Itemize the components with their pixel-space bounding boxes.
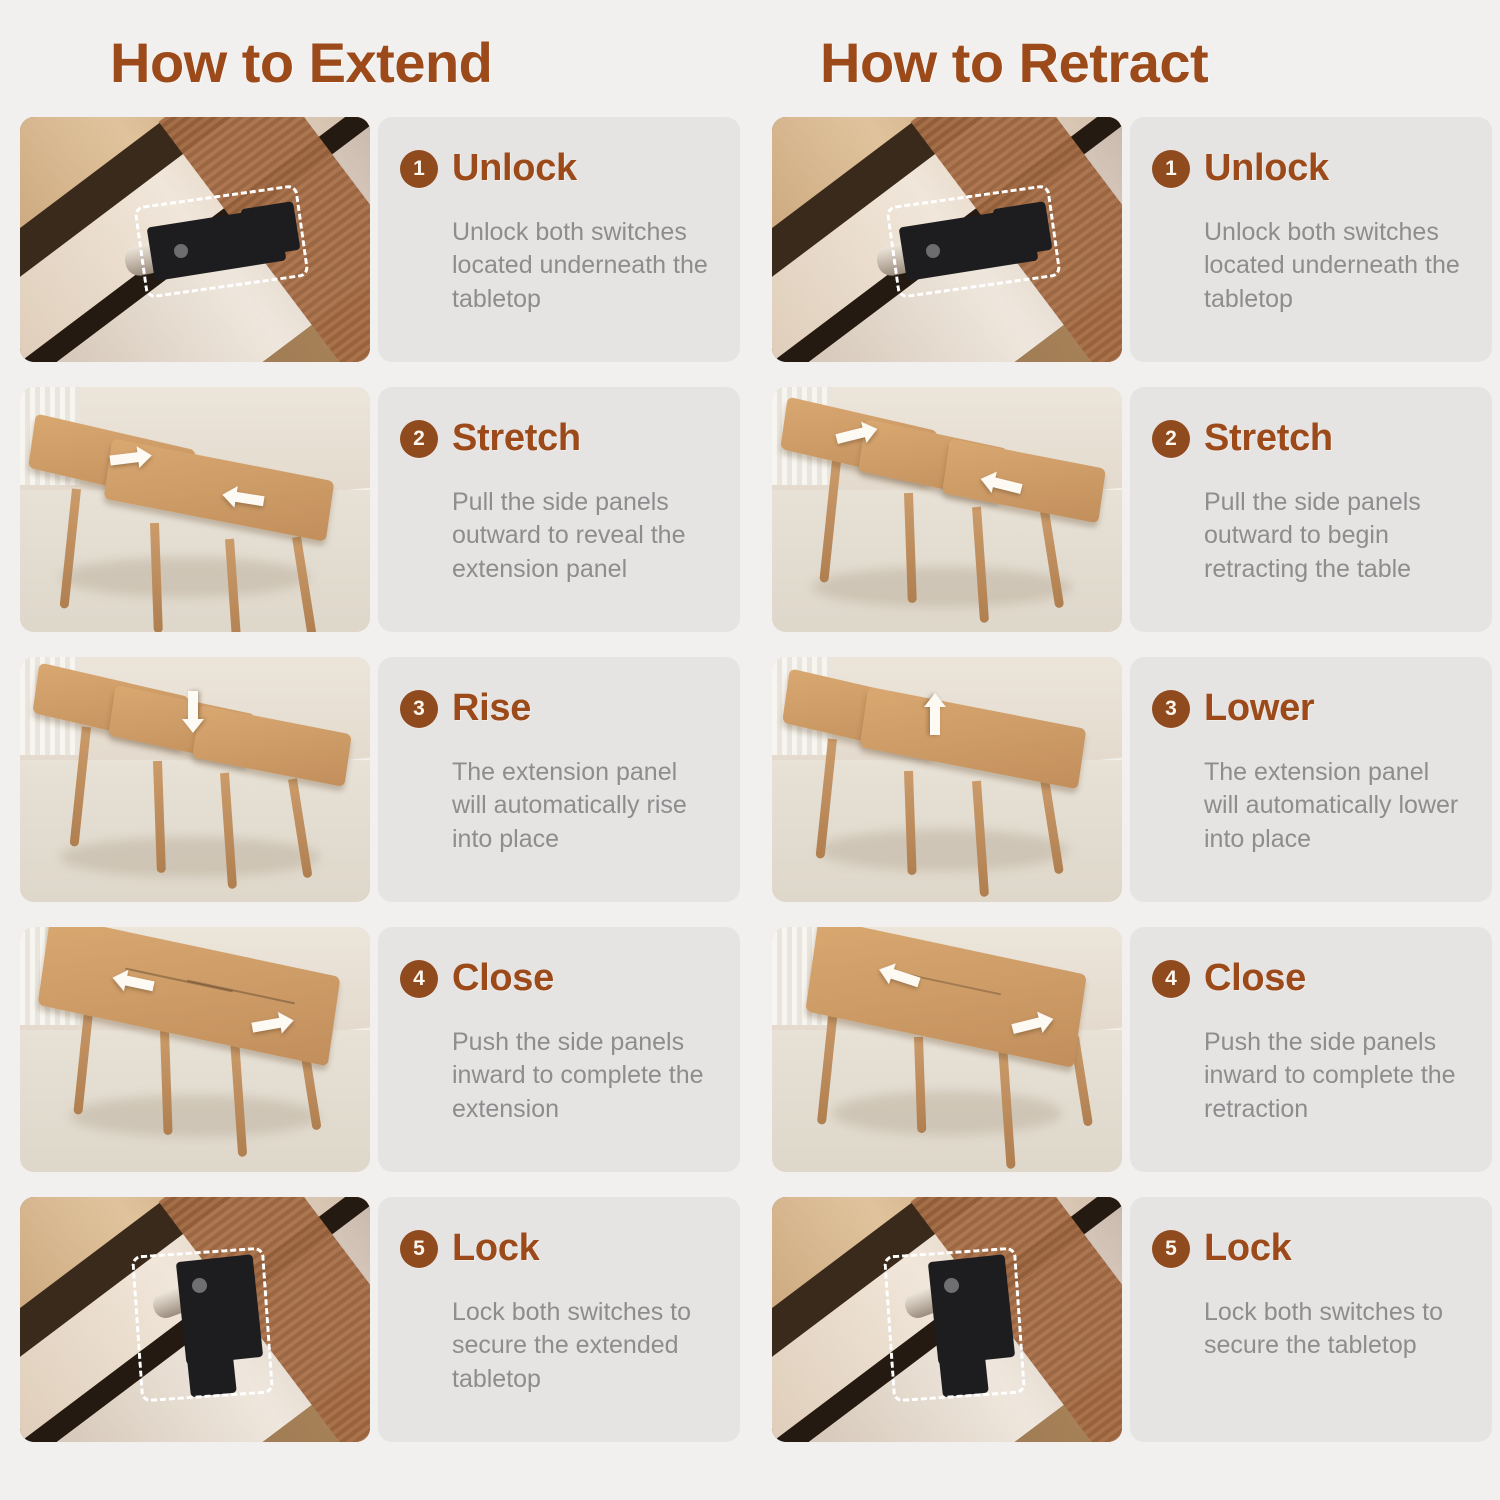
step-card: 4 Close Push the side panels inward to c…: [1130, 927, 1492, 1172]
step-description: Lock both switches to secure the extende…: [452, 1296, 714, 1396]
step-description: Unlock both switches located underneath …: [452, 216, 714, 316]
photo-mechanism-locked: [20, 1197, 370, 1442]
step-row: 4 Close Push the side panels inward to c…: [20, 927, 740, 1172]
step-number-badge: 1: [1152, 150, 1190, 188]
step-title: Rise: [452, 687, 531, 730]
column-title-extend: How to Extend: [110, 0, 740, 95]
step-row: 1 Unlock Unlock both switches located un…: [20, 117, 740, 362]
highlight-dashed-outline: [883, 1246, 1026, 1402]
step-title: Lower: [1204, 687, 1314, 730]
column-extend: How to Extend: [20, 0, 740, 1500]
photo-table-extended: [20, 927, 370, 1172]
step-row: 3 Rise The extension panel will automati…: [20, 657, 740, 902]
step-row: 2 Stretch Pull the side panels outward t…: [20, 387, 740, 632]
step-description: Lock both switches to secure the tableto…: [1204, 1296, 1466, 1363]
column-title-retract: How to Retract: [820, 0, 1492, 95]
step-card: 2 Stretch Pull the side panels outward t…: [378, 387, 740, 632]
step-title: Lock: [452, 1227, 540, 1270]
step-title: Close: [1204, 957, 1306, 1000]
step-list-extend: 1 Unlock Unlock both switches located un…: [20, 117, 740, 1442]
step-number-badge: 5: [400, 1230, 438, 1268]
step-card: 3 Rise The extension panel will automati…: [378, 657, 740, 902]
step-card: 5 Lock Lock both switches to secure the …: [1130, 1197, 1492, 1442]
step-card: 2 Stretch Pull the side panels outward t…: [1130, 387, 1492, 632]
step-description: Pull the side panels outward to begin re…: [1204, 486, 1466, 586]
step-number-badge: 4: [1152, 960, 1190, 998]
step-description: The extension panel will automatically l…: [1204, 756, 1466, 856]
photo-table-partially-open: [20, 387, 370, 632]
step-description: Push the side panels inward to complete …: [452, 1026, 714, 1126]
step-card: 1 Unlock Unlock both switches located un…: [378, 117, 740, 362]
step-row: 5 Lock Lock both switches to secure the …: [20, 1197, 740, 1442]
step-title: Close: [452, 957, 554, 1000]
step-description: Pull the side panels outward to reveal t…: [452, 486, 714, 586]
photo-table-fully-open: [772, 387, 1122, 632]
step-card: 5 Lock Lock both switches to secure the …: [378, 1197, 740, 1442]
column-retract: How to Retract: [772, 0, 1492, 1500]
step-card: 3 Lower The extension panel will automat…: [1130, 657, 1492, 902]
step-title: Unlock: [1204, 147, 1329, 190]
step-description: The extension panel will automatically r…: [452, 756, 714, 856]
step-row: 1 Unlock Unlock both switches located un…: [772, 117, 1492, 362]
arrow-down-icon: [922, 691, 948, 737]
photo-mechanism-unlocked: [20, 117, 370, 362]
step-number-badge: 3: [1152, 690, 1190, 728]
step-row: 4 Close Push the side panels inward to c…: [772, 927, 1492, 1172]
photo-table-panel-lowering: [772, 657, 1122, 902]
instruction-sheet: How to Extend: [0, 0, 1500, 1500]
photo-mechanism-locked: [772, 1197, 1122, 1442]
arrow-up-icon: [180, 689, 206, 735]
step-row: 2 Stretch Pull the side panels outward t…: [772, 387, 1492, 632]
photo-table-panel-rising: [20, 657, 370, 902]
step-title: Stretch: [1204, 417, 1333, 460]
step-number-badge: 4: [400, 960, 438, 998]
step-row: 5 Lock Lock both switches to secure the …: [772, 1197, 1492, 1442]
step-description: Push the side panels inward to complete …: [1204, 1026, 1466, 1126]
step-number-badge: 5: [1152, 1230, 1190, 1268]
step-card: 1 Unlock Unlock both switches located un…: [1130, 117, 1492, 362]
photo-mechanism-unlocked: [772, 117, 1122, 362]
step-number-badge: 1: [400, 150, 438, 188]
step-title: Lock: [1204, 1227, 1292, 1270]
step-list-retract: 1 Unlock Unlock both switches located un…: [772, 117, 1492, 1442]
step-number-badge: 3: [400, 690, 438, 728]
step-number-badge: 2: [400, 420, 438, 458]
photo-table-retracted: [772, 927, 1122, 1172]
arrow-left-icon: [107, 442, 156, 473]
step-row: 3 Lower The extension panel will automat…: [772, 657, 1492, 902]
step-title: Unlock: [452, 147, 577, 190]
highlight-dashed-outline: [131, 1246, 274, 1402]
step-card: 4 Close Push the side panels inward to c…: [378, 927, 740, 1172]
step-number-badge: 2: [1152, 420, 1190, 458]
step-description: Unlock both switches located underneath …: [1204, 216, 1466, 316]
step-title: Stretch: [452, 417, 581, 460]
